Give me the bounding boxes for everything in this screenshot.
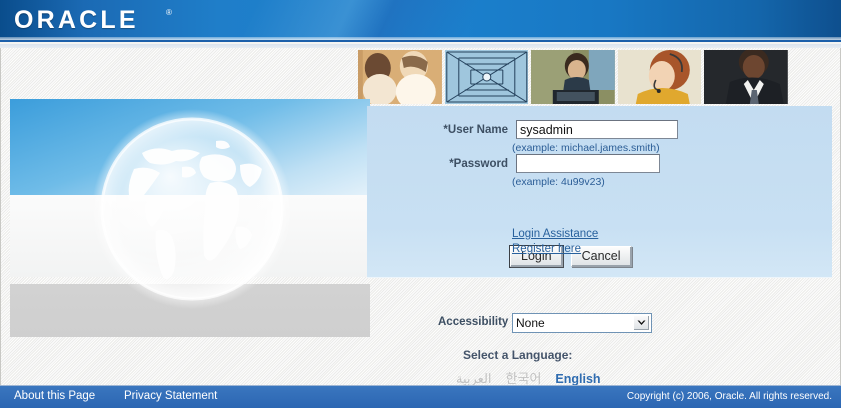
copyright-text: Copyright (c) 2006, Oracle. All rights r… — [627, 391, 832, 402]
woman-with-headset-photo — [618, 50, 702, 104]
page-header: ORACLE ® — [0, 0, 841, 42]
globe-artwork-panel — [10, 99, 370, 386]
accessibility-row: Accessibility None — [1, 313, 841, 333]
oracle-logo: ORACLE — [14, 6, 139, 35]
about-this-page-link[interactable]: About this Page — [14, 390, 95, 402]
username-label: *User Name — [424, 124, 508, 136]
language-selector-title: Select a Language: — [463, 348, 572, 362]
businessman-in-suit-photo — [704, 50, 788, 104]
man-at-laptop-photo — [531, 50, 615, 104]
register-here-link[interactable]: Register here — [512, 243, 581, 255]
login-assistance-link[interactable]: Login Assistance — [512, 228, 598, 240]
password-hint: (example: 4u99v23) — [512, 176, 605, 188]
chevron-down-icon[interactable] — [633, 315, 650, 331]
language-option-english[interactable]: English — [555, 372, 600, 386]
artwork-band-white — [10, 195, 370, 277]
photo-strip — [358, 50, 788, 104]
oracle-login-page: ORACLE ® — [0, 0, 841, 408]
accessibility-selected-value: None — [516, 316, 545, 330]
content-area: *User Name (example: michael.james.smith… — [0, 48, 841, 385]
page-footer: About this Page Privacy Statement Copyri… — [0, 385, 841, 408]
username-hint: (example: michael.james.smith) — [512, 142, 660, 154]
username-row: *User Name — [424, 120, 678, 139]
password-input[interactable] — [516, 154, 660, 173]
password-label: *Password — [424, 158, 508, 170]
privacy-statement-link[interactable]: Privacy Statement — [124, 390, 217, 402]
artwork-band-blue — [10, 99, 370, 195]
password-row: *Password — [424, 154, 660, 173]
registered-trademark-icon: ® — [166, 8, 172, 17]
accessibility-select[interactable]: None — [512, 313, 652, 333]
two-colleagues-photo — [358, 50, 442, 104]
network-architecture-photo — [445, 50, 529, 104]
username-input[interactable] — [516, 120, 678, 139]
chevron-down-glyph — [637, 320, 646, 326]
accessibility-label: Accessibility — [438, 316, 508, 328]
